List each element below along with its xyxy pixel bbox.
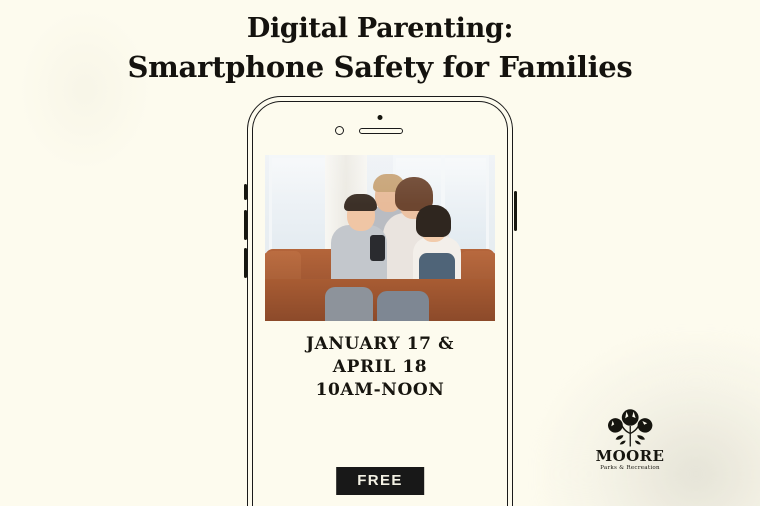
event-time-line: 10AM-NOON [265,379,495,402]
headline-line-2: Smartphone Safety for Families [0,49,760,86]
photo-highlight-overlay [265,155,495,321]
phone-mockup: JANUARY 17 & APRIL 18 10AM-NOON FREE (ad… [247,96,513,506]
volume-up-button[interactable] [244,210,247,240]
family-photo [265,155,495,321]
power-button[interactable] [514,191,517,231]
phone-screen: JANUARY 17 & APRIL 18 10AM-NOON FREE (ad… [265,155,495,506]
camera-icon [335,126,344,135]
event-dates: JANUARY 17 & APRIL 18 10AM-NOON [265,333,495,402]
headline-line-1: Digital Parenting: [0,12,760,47]
speaker-grille-icon [359,128,403,134]
event-date-line-2: APRIL 18 [265,356,495,379]
volume-down-button[interactable] [244,248,247,278]
three-flowers-icon [603,406,657,448]
price-badge: FREE [336,467,424,495]
event-date-line-1: JANUARY 17 & [265,333,495,356]
moore-parks-recreation-logo: MOORE Parks & Recreation [592,406,668,482]
poster-headline: Digital Parenting: Smartphone Safety for… [0,12,760,86]
silent-switch-button[interactable] [244,184,247,200]
proximity-sensor-icon [378,115,383,120]
logo-tagline: Parks & Recreation [592,466,668,472]
poster-canvas: Digital Parenting: Smartphone Safety for… [0,0,760,506]
logo-wordmark: MOORE [592,449,668,464]
